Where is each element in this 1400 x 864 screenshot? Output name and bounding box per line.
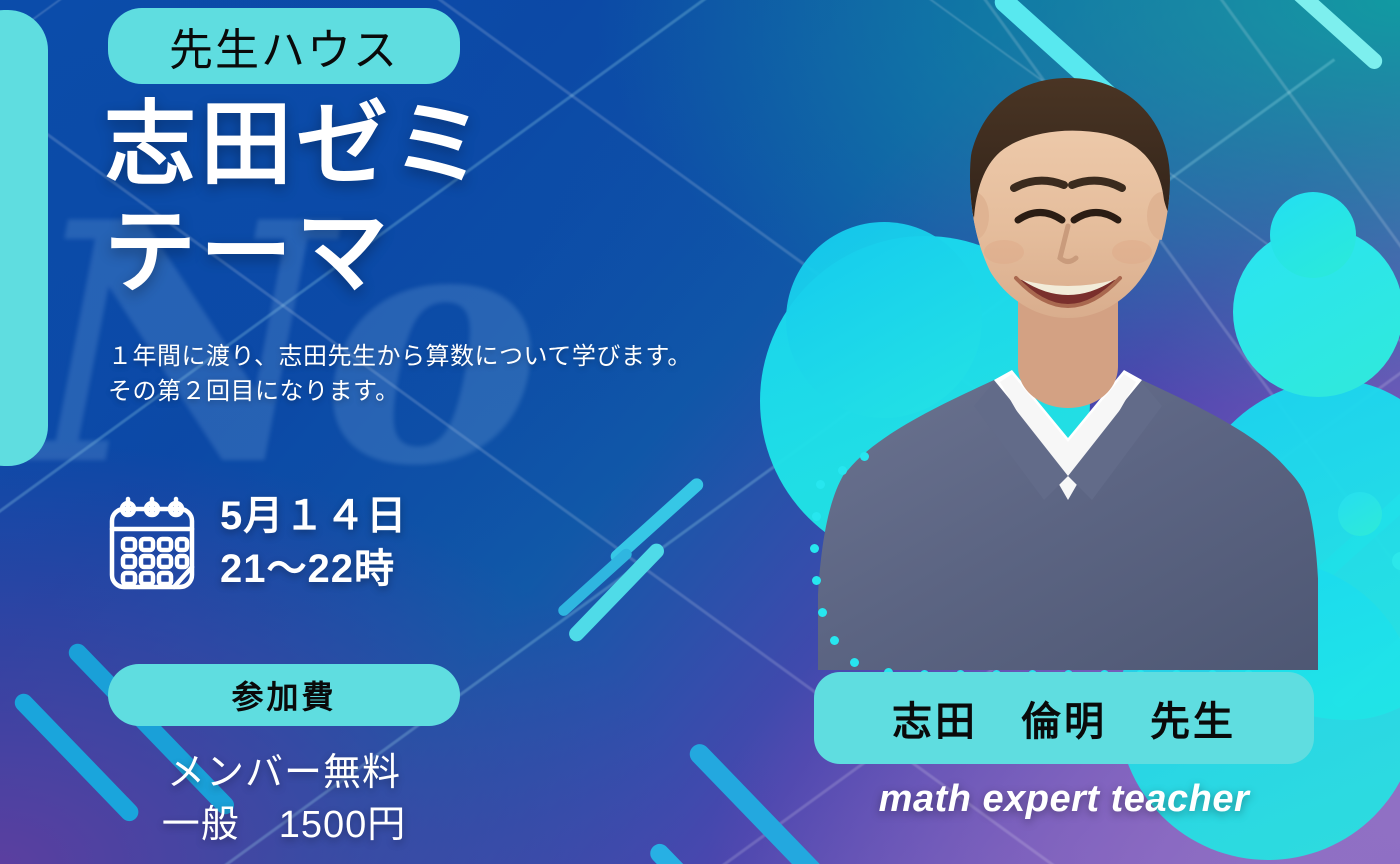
page-title: 志田ゼミ テーマ [104,92,488,307]
teacher-name-badge[interactable]: 志田 倫明 先生 [814,672,1314,764]
description-text: １年間に渡り、志田先生から算数について学びます。 その第２回目になります。 [108,340,692,410]
schedule-block: 5月１４日 21〜22時 [106,490,407,596]
schedule-text: 5月１４日 21〜22時 [220,490,407,596]
promo-poster: No [0,0,1400,864]
house-badge[interactable]: 先生ハウス [108,8,460,84]
fee-badge[interactable]: 参加費 [108,664,460,726]
poster-content: 先生ハウス 志田ゼミ テーマ １年間に渡り、志田先生から算数について学びます。 … [0,0,1400,864]
teacher-role-label: math expert teacher [814,778,1314,821]
fee-details: メンバー無料 一般 1500円 [108,748,460,851]
calendar-icon [106,493,198,593]
